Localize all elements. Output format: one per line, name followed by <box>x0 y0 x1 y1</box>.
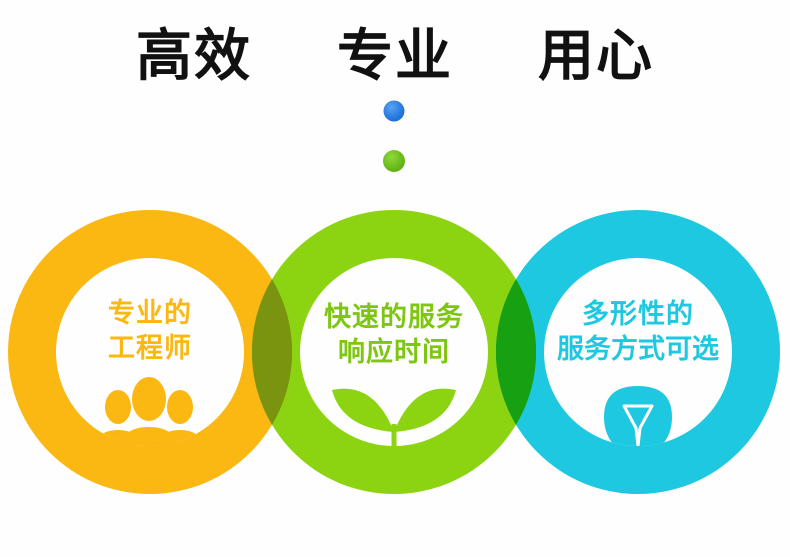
lobe-label-cyan-line-1: 多形性的 <box>528 297 748 332</box>
lobe-label-green-line-2: 响应时间 <box>288 335 500 370</box>
lobe-label-cyan: 多形性的 服务方式可选 <box>528 297 748 367</box>
lobe-label-green: 快速的服务 响应时间 <box>288 300 500 370</box>
lobe-label-orange: 专业的 工程师 <box>50 296 250 366</box>
venn-diagram <box>0 0 790 557</box>
lobe-label-cyan-line-2: 服务方式可选 <box>528 332 748 367</box>
lobe-label-orange-line-2: 工程师 <box>50 331 250 366</box>
ring-cyan[interactable] <box>0 0 790 557</box>
lobe-label-orange-line-1: 专业的 <box>50 296 250 331</box>
lobe-label-green-line-1: 快速的服务 <box>288 300 500 335</box>
infographic-canvas: 高效 专业 用心 <box>0 0 790 557</box>
